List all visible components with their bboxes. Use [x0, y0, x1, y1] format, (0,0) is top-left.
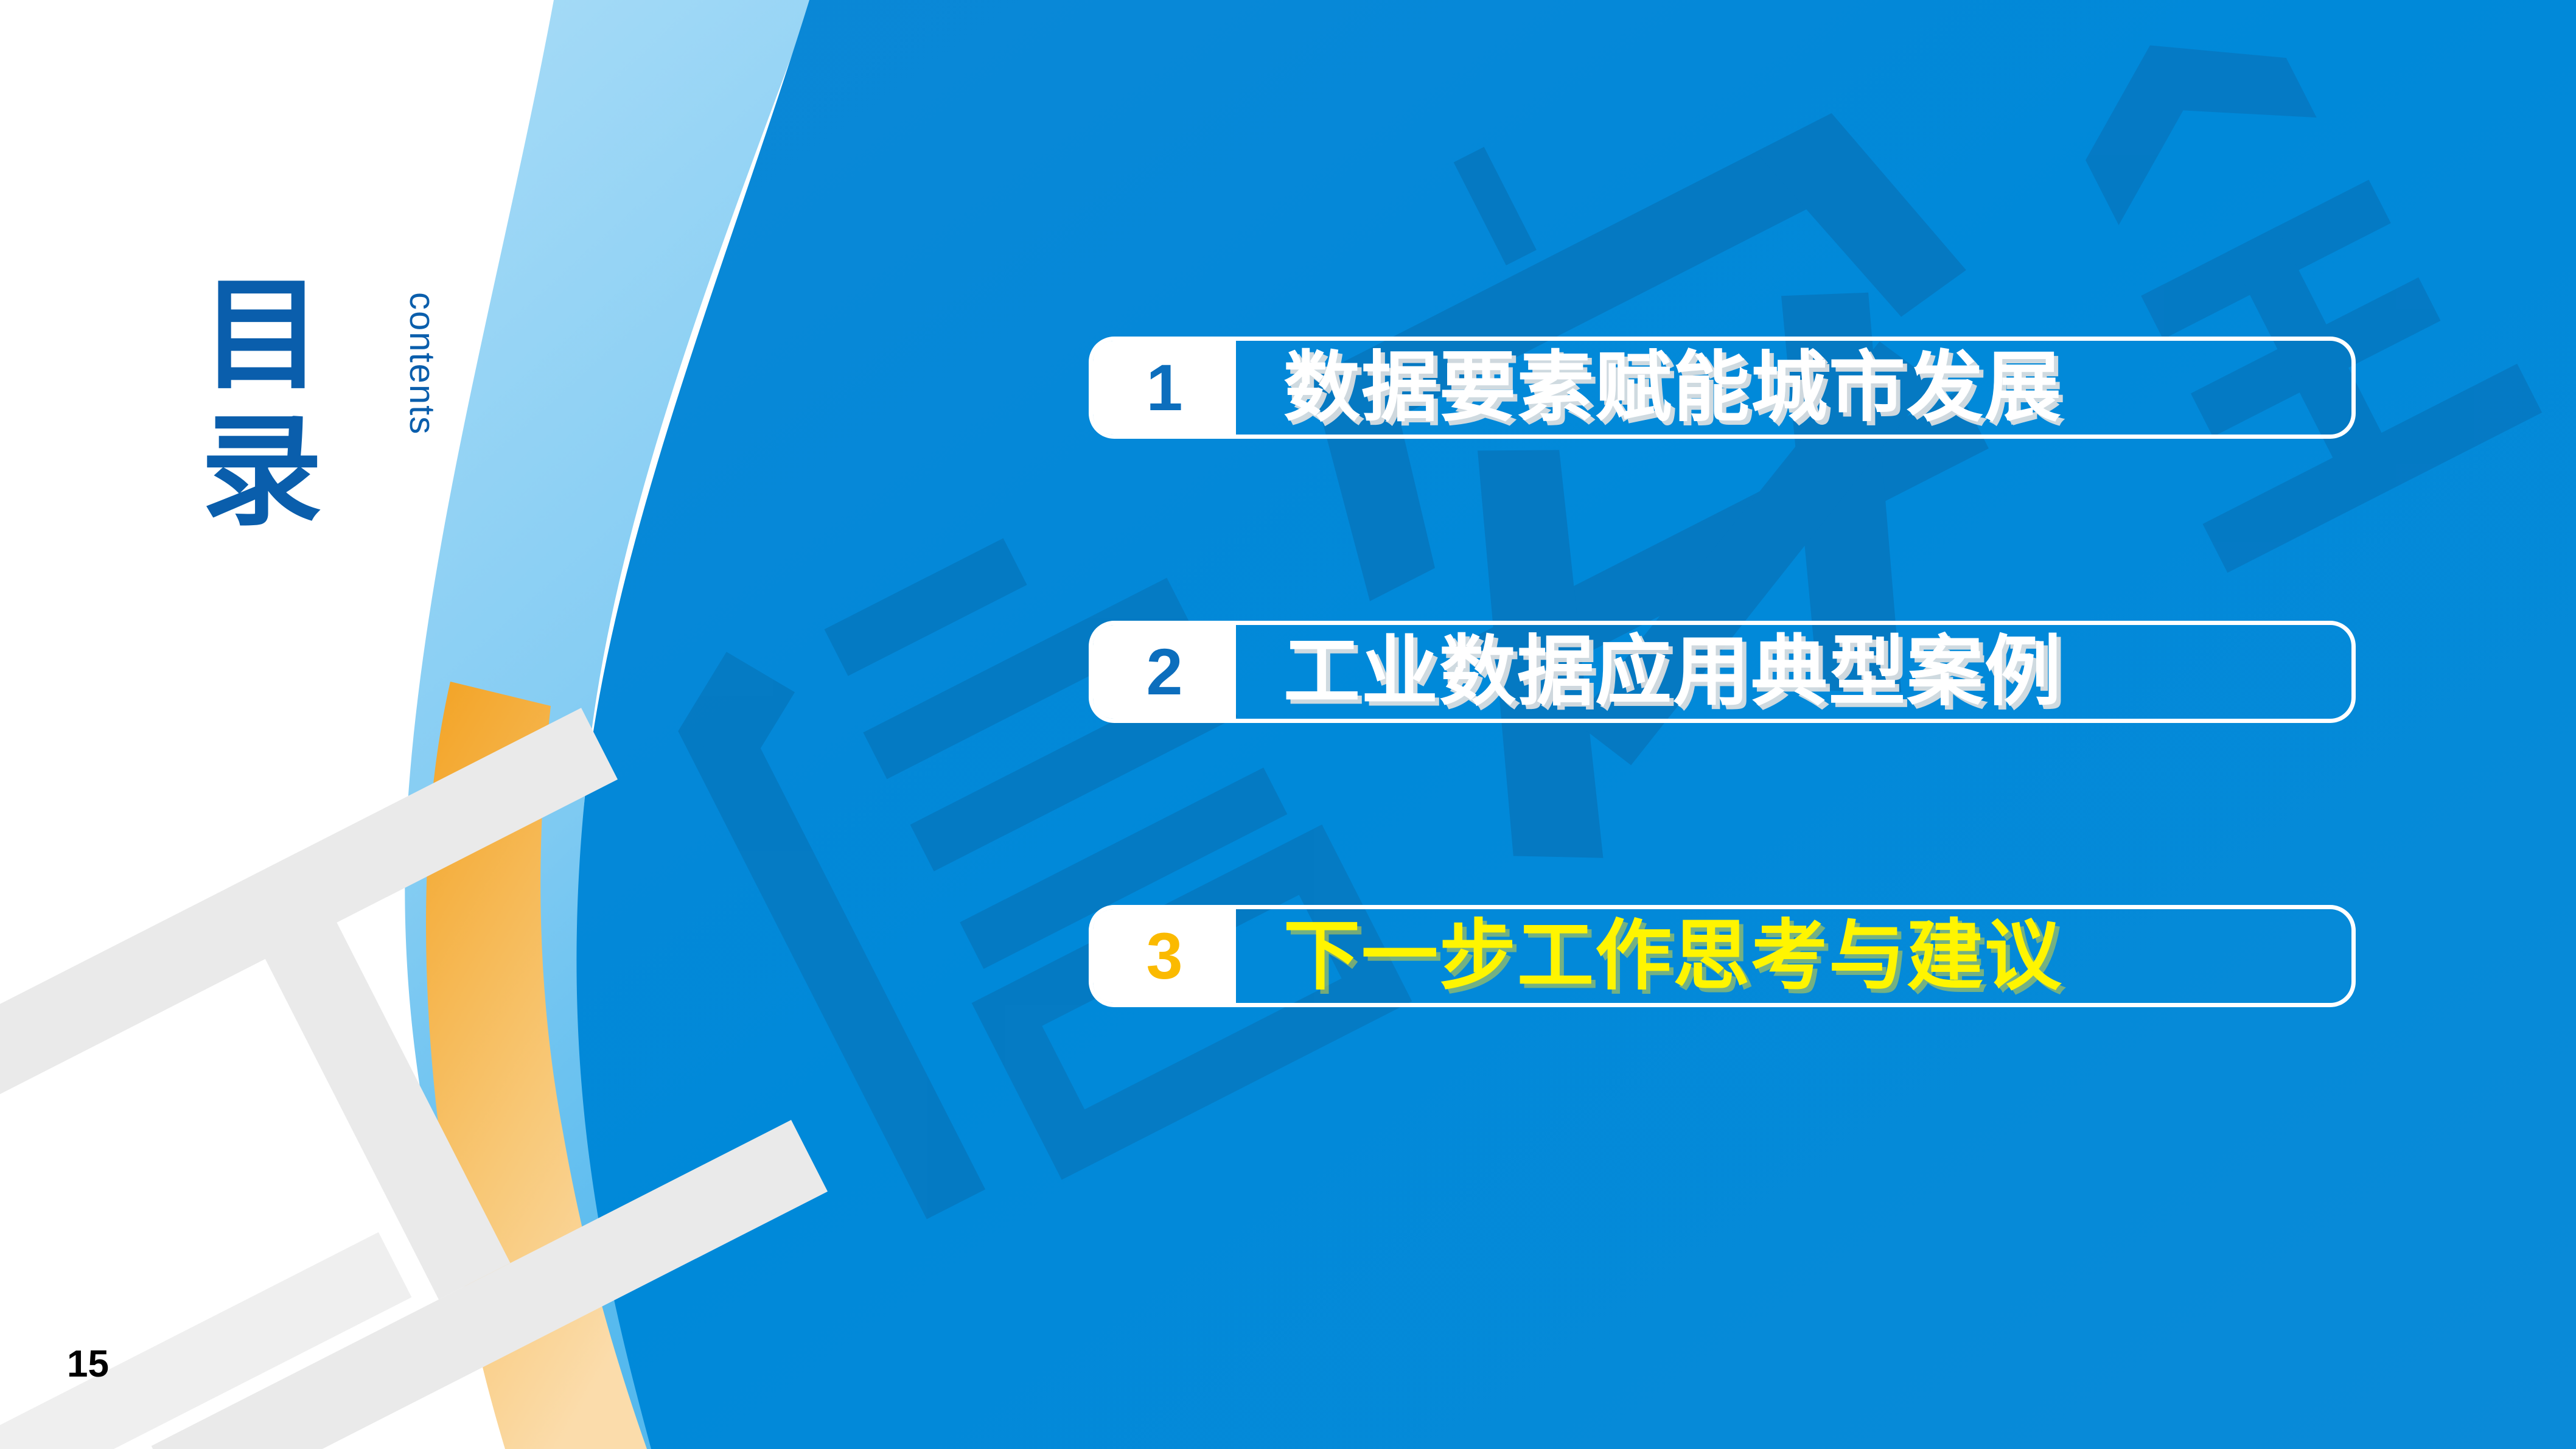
background-decoration — [0, 0, 2576, 1449]
toc-item-2-number: 2 — [1093, 625, 1236, 719]
toc-title-block: 目录 contents — [201, 268, 542, 572]
toc-item-1-label: 数据要素赋能城市发展 — [1236, 341, 2351, 435]
toc-item-2[interactable]: 2 工业数据应用典型案例 — [1089, 621, 2356, 723]
presentation-slide: 目录 contents 1 数据要素赋能城市发展 2 工业数据应用典型案例 3 … — [0, 0, 2576, 1449]
page-title-english: contents — [402, 292, 442, 435]
page-number: 15 — [67, 1343, 109, 1386]
toc-item-1[interactable]: 1 数据要素赋能城市发展 — [1089, 337, 2356, 439]
toc-item-3-number: 3 — [1093, 909, 1236, 1003]
toc-item-2-label: 工业数据应用典型案例 — [1236, 625, 2351, 719]
page-title: 目录 — [201, 268, 383, 540]
toc-item-1-number: 1 — [1093, 341, 1236, 435]
toc-item-3-label: 下一步工作思考与建议 — [1236, 909, 2351, 1003]
toc-item-3[interactable]: 3 下一步工作思考与建议 — [1089, 905, 2356, 1007]
